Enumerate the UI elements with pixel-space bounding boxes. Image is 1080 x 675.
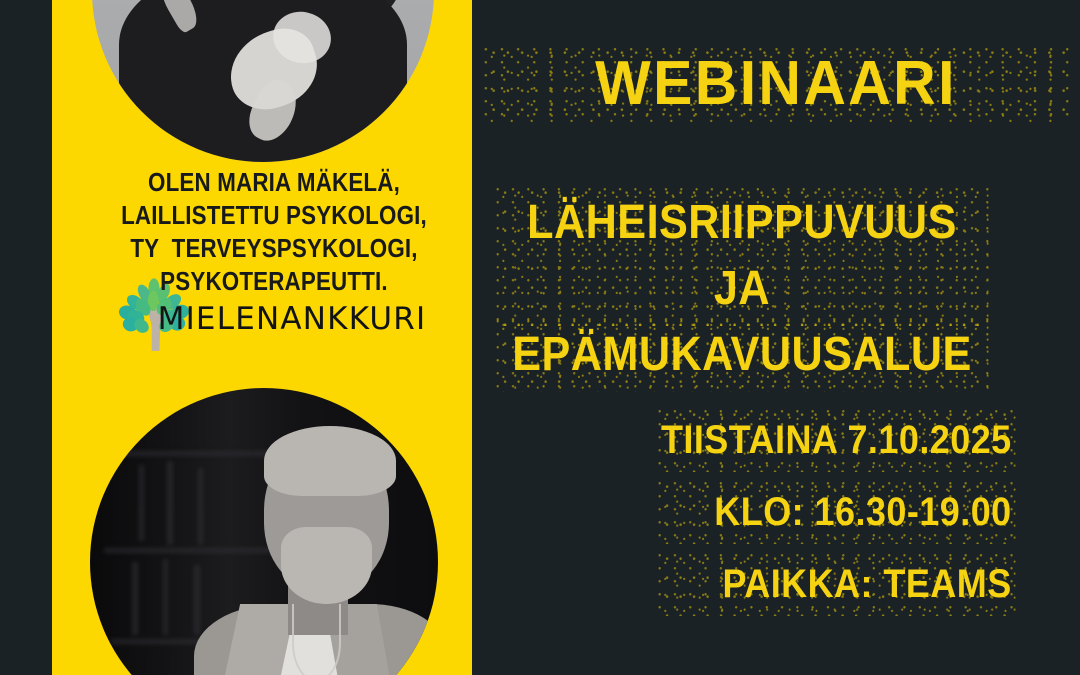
- bookshelf-book-2: [167, 461, 173, 545]
- bio-line-2: LAILLISTETTU PSYKOLOGI,: [104, 199, 445, 232]
- headline-line-2: EPÄMUKAVUUSALUE: [499, 322, 985, 388]
- bookshelf-shelf-1: [111, 451, 271, 456]
- portrait-photo-man: [90, 388, 438, 675]
- man-beard: [281, 527, 371, 604]
- bookshelf-book-5: [163, 559, 168, 636]
- event-time: KLO: 16.30-19.00: [661, 484, 1012, 540]
- presenter-bio-block: OLEN MARIA MÄKELÄ, LAILLISTETTU PSYKOLOG…: [52, 166, 472, 338]
- event-date: TIISTAINA 7.10.2025: [661, 412, 1012, 468]
- right-dark-panel: WEBINAARI LÄHEISRIIPPUVUUS JA EPÄMUKAVUU…: [472, 0, 1080, 675]
- bookshelf-book-4: [132, 562, 138, 635]
- bookshelf-shelf-2: [104, 548, 271, 553]
- webinar-poster: OLEN MARIA MÄKELÄ, LAILLISTETTU PSYKOLOG…: [0, 0, 1080, 675]
- bookshelf-book-3: [198, 468, 203, 545]
- poster-kicker: WEBINAARI: [487, 50, 1065, 118]
- left-yellow-panel: OLEN MARIA MÄKELÄ, LAILLISTETTU PSYKOLOG…: [52, 0, 472, 675]
- man-necklace: [292, 604, 341, 675]
- bio-line-1: OLEN MARIA MÄKELÄ,: [104, 166, 445, 199]
- event-details-block: TIISTAINA 7.10.2025 KLO: 16.30-19.00 PAI…: [622, 412, 1012, 628]
- poster-headline: LÄHEISRIIPPUVUUS JA EPÄMUKAVUUSALUE: [472, 190, 1012, 388]
- bookshelf-book-1: [139, 465, 144, 542]
- event-location: PAIKKA: TEAMS: [661, 556, 1012, 612]
- bio-line-4: PSYKOTERAPEUTTI.: [104, 265, 445, 298]
- headline-line-1: LÄHEISRIIPPUVUUS JA: [499, 190, 985, 322]
- bookshelf-book-6: [194, 565, 200, 635]
- bio-line-3: TY TERVEYSPSYKOLOGI,: [104, 232, 445, 265]
- brand-name: MIELENANKKURI: [76, 300, 472, 338]
- man-hair: [264, 426, 396, 496]
- portrait-photo-woman: [92, 0, 434, 162]
